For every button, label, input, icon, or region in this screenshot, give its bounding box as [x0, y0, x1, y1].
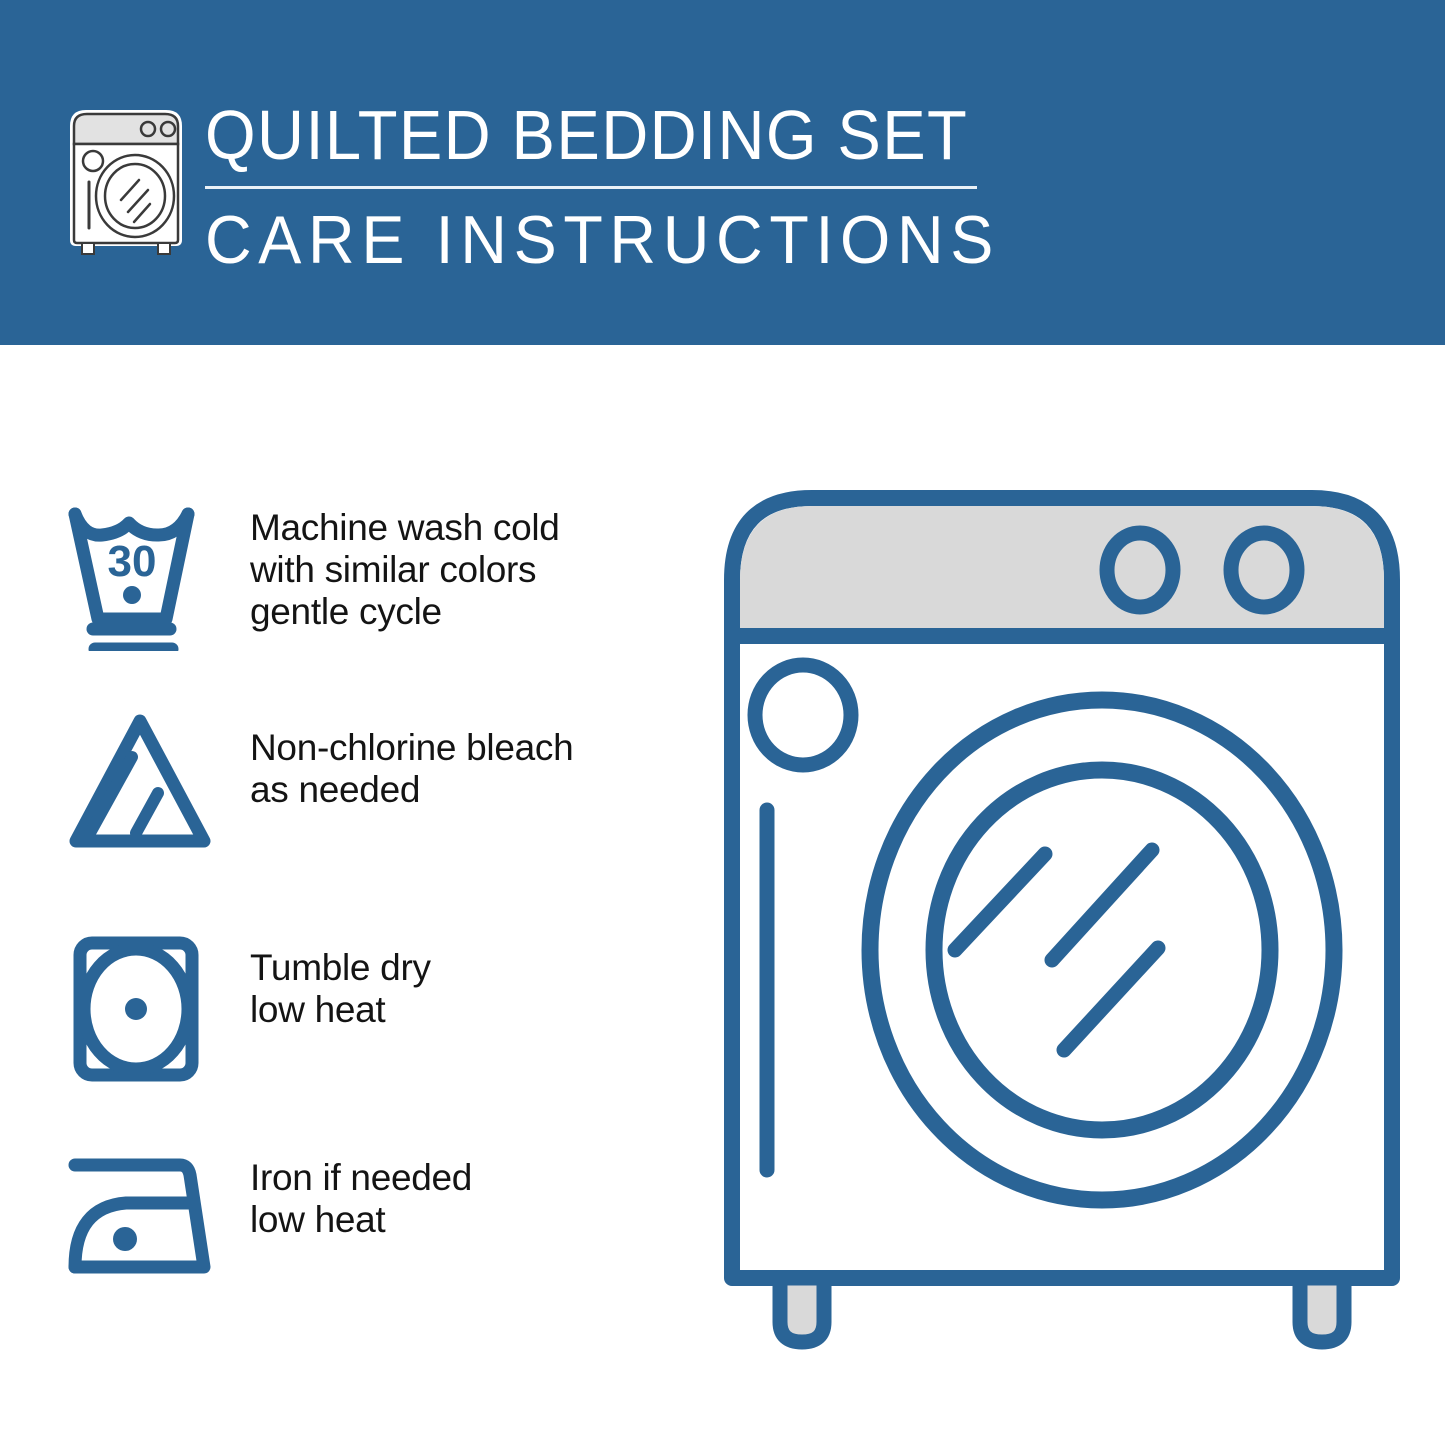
care-line: with similar colors: [250, 549, 560, 591]
care-text-iron: Iron if needed low heat: [250, 1141, 472, 1241]
page-subtitle: CARE INSTRUCTIONS: [205, 202, 1060, 278]
care-line: Machine wash cold: [250, 507, 560, 549]
care-text-bleach: Non-chlorine bleach as needed: [250, 711, 573, 811]
care-text-machine-wash: Machine wash cold with similar colors ge…: [250, 491, 560, 633]
non-chlorine-bleach-triangle-icon: [62, 711, 222, 871]
care-line: Iron if needed: [250, 1157, 472, 1199]
care-line: gentle cycle: [250, 591, 560, 633]
care-line: Tumble dry: [250, 947, 431, 989]
care-instruction-list: 30 Machine wash cold with similar colors…: [0, 345, 700, 1445]
care-text-tumble-dry: Tumble dry low heat: [250, 931, 431, 1031]
leg-left: [780, 1278, 824, 1342]
leg-right: [1300, 1278, 1344, 1342]
care-line: Non-chlorine bleach: [250, 727, 573, 769]
washing-machine-icon: [62, 104, 190, 256]
title-divider: [205, 186, 977, 189]
care-row-bleach: Non-chlorine bleach as needed: [0, 711, 700, 871]
care-row-iron: Iron if needed low heat: [0, 1141, 700, 1301]
wash-temperature-label: 30: [108, 537, 157, 586]
knob-left: [1107, 533, 1173, 607]
page-title: QUILTED BEDDING SET: [205, 96, 1042, 174]
iron-low-heat-icon: [62, 1141, 222, 1301]
header-text-block: QUILTED BEDDING SET CARE INSTRUCTIONS: [205, 96, 1105, 278]
wash-tub-30-icon: 30: [62, 491, 222, 651]
care-row-tumble-dry: Tumble dry low heat: [0, 931, 700, 1091]
front-load-washing-machine-illustration: [712, 470, 1412, 1350]
care-line: as needed: [250, 769, 573, 811]
knob-right: [1231, 533, 1297, 607]
care-line: low heat: [250, 1199, 472, 1241]
care-row-machine-wash: 30 Machine wash cold with similar colors…: [0, 491, 700, 651]
header-banner: QUILTED BEDDING SET CARE INSTRUCTIONS: [0, 0, 1445, 345]
care-instructions-infographic: QUILTED BEDDING SET CARE INSTRUCTIONS 3: [0, 0, 1445, 1445]
tumble-dry-low-icon: [62, 931, 222, 1091]
care-line: low heat: [250, 989, 431, 1031]
